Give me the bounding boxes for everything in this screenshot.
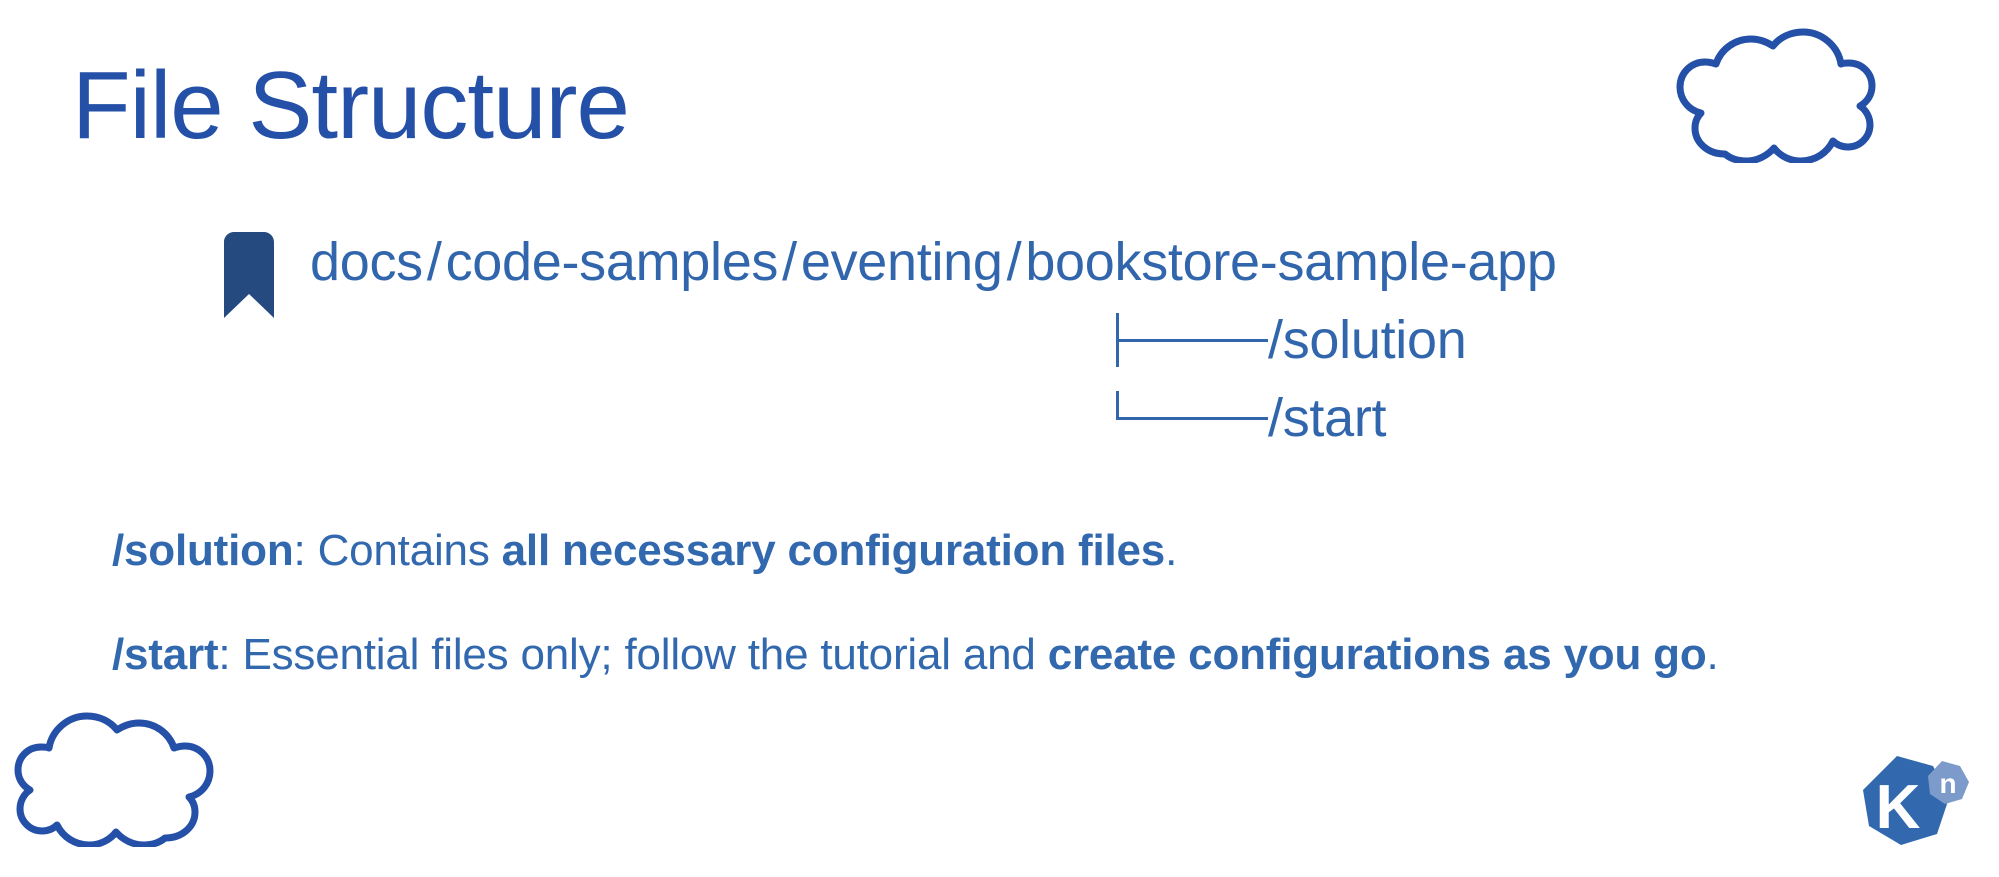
- slide-canvas: File Structure docs/code-samples/eventin…: [0, 0, 1999, 877]
- page-title: File Structure: [72, 58, 629, 154]
- path-segment-docs: docs: [310, 232, 423, 292]
- tree-connector-tee-icon: [1116, 313, 1268, 367]
- path-separator: /: [778, 232, 801, 292]
- path-segment-bookstore-sample-app: bookstore-sample-app: [1025, 232, 1556, 292]
- tree-item-label: /start: [1268, 391, 1386, 445]
- knative-logo: K n: [1845, 748, 1975, 860]
- description-end: .: [1707, 630, 1719, 679]
- description-solution: /solution: Contains all necessary config…: [112, 529, 1177, 573]
- tree-item-start: /start: [1116, 391, 1386, 445]
- path-segment-eventing: eventing: [801, 232, 1003, 292]
- bookmark-icon: [218, 232, 280, 320]
- description-term: /solution: [112, 526, 294, 575]
- knative-logo-badge-letter: n: [1939, 768, 1956, 799]
- tree-item-solution: /solution: [1116, 313, 1466, 367]
- path-separator: /: [1003, 232, 1026, 292]
- tree-item-label: /solution: [1268, 313, 1466, 367]
- breadcrumb-path: docs/code-samples/eventing/bookstore-sam…: [310, 235, 1557, 289]
- path-separator: /: [423, 232, 446, 292]
- description-start: /start: Essential files only; follow the…: [112, 633, 1719, 677]
- cloud-icon: [12, 712, 227, 847]
- cloud-icon: [1663, 28, 1878, 163]
- path-segment-code-samples: code-samples: [446, 232, 779, 292]
- description-emphasis: create configurations as you go: [1048, 630, 1707, 679]
- tree-connector-elbow-icon: [1116, 391, 1268, 445]
- description-emphasis: all necessary configuration files: [502, 526, 1165, 575]
- description-end: .: [1165, 526, 1177, 575]
- description-text: : Contains: [294, 526, 502, 575]
- knative-logo-letter: K: [1876, 773, 1921, 842]
- description-term: /start: [112, 630, 218, 679]
- description-text: : Essential files only; follow the tutor…: [218, 630, 1047, 679]
